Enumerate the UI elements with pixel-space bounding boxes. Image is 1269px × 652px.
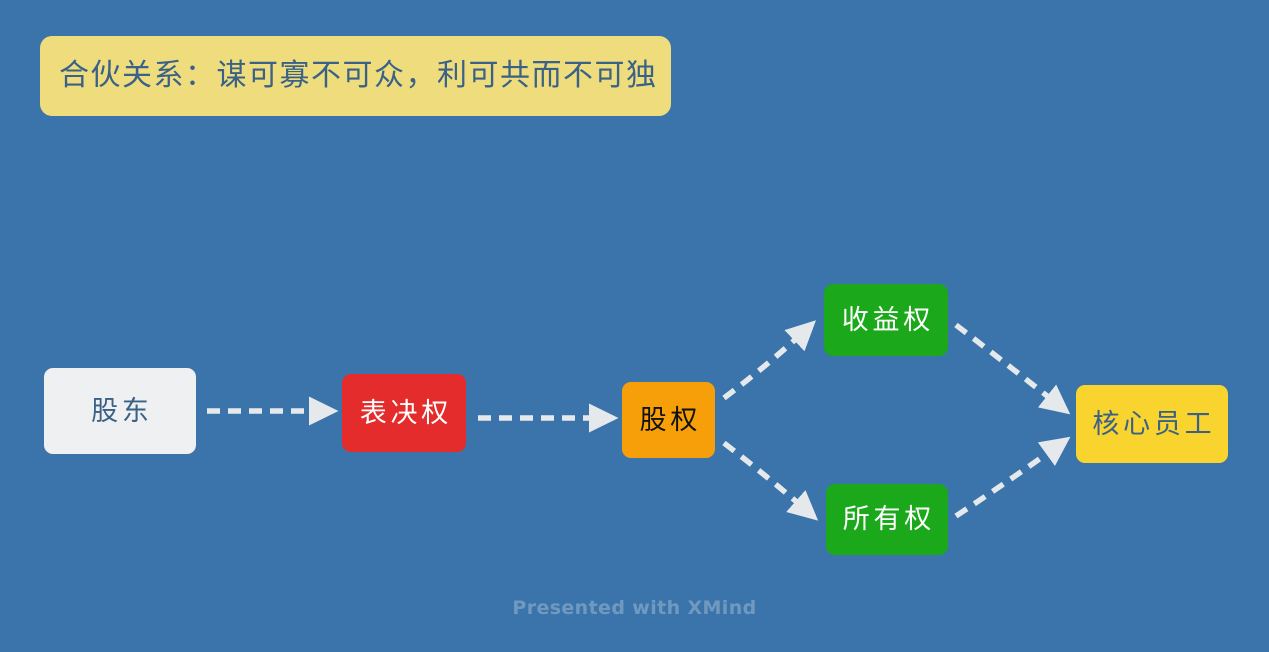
connector-income-to-core-employee [956,325,1066,411]
node-shareholder[interactable]: 股东 [44,368,196,454]
node-income-right[interactable]: 收益权 [824,284,948,356]
connector-equity-to-income [724,324,812,398]
diagram-canvas: 合伙关系：谋可寡不可众，利可共而不可独 股东 表决权 股权 收益权 所有权 核心… [0,0,1269,652]
node-ownership-right[interactable]: 所有权 [826,484,948,555]
xmind-watermark: Presented with XMind [0,597,1269,619]
connector-ownership-to-core-employee [956,440,1066,516]
node-voting-right[interactable]: 表决权 [342,374,466,452]
node-equity[interactable]: 股权 [622,382,715,458]
node-core-employee[interactable]: 核心员工 [1076,385,1228,463]
title-banner: 合伙关系：谋可寡不可众，利可共而不可独 [40,36,671,116]
connector-equity-to-ownership [724,443,814,517]
